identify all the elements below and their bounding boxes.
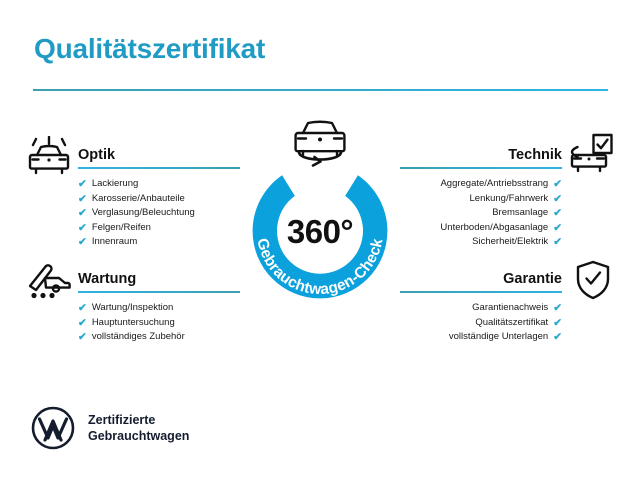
section-wartung-title: Wartung	[78, 270, 240, 288]
list-item-label: vollständiges Zubehör	[92, 330, 185, 345]
footer-brand: Zertifizierte Gebrauchtwagen	[30, 405, 189, 451]
car-wash-icon	[26, 136, 72, 178]
list-item-label: Qualitätszertifikat	[475, 316, 548, 331]
list-item: Garantienachweis✔	[400, 301, 562, 316]
list-item-label: Unterboden/Abgasanlage	[440, 221, 548, 236]
section-wartung: Wartung ✔Wartung/Inspektion ✔Hauptunters…	[78, 270, 240, 345]
footer-brand-text: Zertifizierte Gebrauchtwagen	[88, 412, 189, 444]
check-icon: ✔	[78, 332, 87, 343]
list-item: Lenkung/Fahrwerk✔	[400, 192, 562, 207]
section-optik-list: ✔Lackierung ✔Karosserie/Anbauteile ✔Verg…	[78, 177, 240, 250]
section-wartung-divider	[78, 291, 240, 293]
check-icon: ✔	[553, 237, 562, 248]
list-item: ✔Innenraum	[78, 235, 240, 250]
list-item: Unterboden/Abgasanlage✔	[400, 221, 562, 236]
list-item-label: Lackierung	[92, 177, 138, 192]
check-icon: ✔	[553, 208, 562, 219]
check-icon: ✔	[78, 223, 87, 234]
title-divider	[33, 89, 608, 91]
footer-line-1: Zertifizierte	[88, 412, 189, 428]
check-icon: ✔	[78, 179, 87, 190]
list-item-label: Hauptuntersuchung	[92, 316, 175, 331]
section-technik-divider	[400, 167, 562, 169]
list-item: ✔Wartung/Inspektion	[78, 301, 240, 316]
list-item-label: Innenraum	[92, 235, 137, 250]
section-garantie-divider	[400, 291, 562, 293]
list-item-label: Aggregate/Antriebsstrang	[440, 177, 548, 192]
check-icon: ✔	[78, 237, 87, 248]
check-icon: ✔	[553, 223, 562, 234]
list-item: ✔Hauptuntersuchung	[78, 316, 240, 331]
car-rotate-icon	[283, 116, 357, 174]
section-optik: Optik ✔Lackierung ✔Karosserie/Anbauteile…	[78, 146, 240, 250]
list-item-label: vollständige Unterlagen	[449, 330, 548, 345]
list-item-label: Garantienachweis	[472, 301, 548, 316]
list-item: ✔Felgen/Reifen	[78, 221, 240, 236]
check-icon: ✔	[553, 318, 562, 329]
check-icon: ✔	[553, 332, 562, 343]
car-service-wrench-icon	[26, 259, 72, 301]
list-item: Sicherheit/Elektrik✔	[400, 235, 562, 250]
volkswagen-logo	[30, 405, 76, 451]
shield-check-icon	[574, 259, 612, 301]
list-item: vollständige Unterlagen✔	[400, 330, 562, 345]
list-item: Aggregate/Antriebsstrang✔	[400, 177, 562, 192]
list-item-label: Karosserie/Anbauteile	[92, 192, 185, 207]
list-item-label: Felgen/Reifen	[92, 221, 151, 236]
section-optik-title: Optik	[78, 146, 240, 164]
list-item-label: Lenkung/Fahrwerk	[470, 192, 549, 207]
page-title: Qualitätszertifikat	[34, 33, 265, 65]
certificate-page: Qualitätszertifikat Optik ✔Lackierung ✔K…	[0, 0, 640, 480]
section-technik-list: Aggregate/Antriebsstrang✔ Lenkung/Fahrwe…	[400, 177, 562, 250]
list-item: ✔Verglasung/Beleuchtung	[78, 206, 240, 221]
check-icon: ✔	[78, 303, 87, 314]
section-garantie-list: Garantienachweis✔ Qualitätszertifikat✔ v…	[400, 301, 562, 345]
section-technik-title: Technik	[400, 146, 562, 164]
list-item: ✔Lackierung	[78, 177, 240, 192]
list-item-label: Bremsanlage	[492, 206, 548, 221]
list-item: ✔Karosserie/Anbauteile	[78, 192, 240, 207]
section-garantie-title: Garantie	[400, 270, 562, 288]
section-wartung-list: ✔Wartung/Inspektion ✔Hauptuntersuchung ✔…	[78, 301, 240, 345]
list-item-label: Verglasung/Beleuchtung	[92, 206, 195, 221]
footer-line-2: Gebrauchtwagen	[88, 428, 189, 444]
check-icon: ✔	[78, 318, 87, 329]
check-icon: ✔	[553, 179, 562, 190]
check-icon: ✔	[78, 208, 87, 219]
section-technik: Technik Aggregate/Antriebsstrang✔ Lenkun…	[400, 146, 562, 250]
section-garantie: Garantie Garantienachweis✔ Qualitätszert…	[400, 270, 562, 345]
list-item: Qualitätszertifikat✔	[400, 316, 562, 331]
car-checklist-icon	[568, 133, 614, 175]
section-optik-divider	[78, 167, 240, 169]
list-item-label: Sicherheit/Elektrik	[472, 235, 548, 250]
check-icon: ✔	[553, 194, 562, 205]
list-item-label: Wartung/Inspektion	[92, 301, 174, 316]
list-item: Bremsanlage✔	[400, 206, 562, 221]
check-icon: ✔	[553, 303, 562, 314]
check-icon: ✔	[78, 194, 87, 205]
list-item: ✔vollständiges Zubehör	[78, 330, 240, 345]
badge-360-value: 360°	[237, 213, 403, 251]
